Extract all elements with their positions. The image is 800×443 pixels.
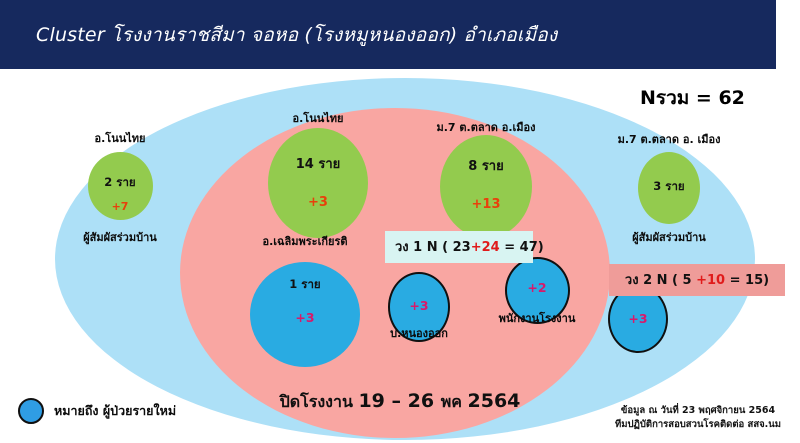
label-nonthai-inner-count: 14 ราย bbox=[248, 158, 388, 173]
label-nonthai-inner-plus: +3 bbox=[248, 196, 388, 211]
page-title: Cluster โรงงานราชสีมา จอหอ (โรงหมูหนองออ… bbox=[36, 20, 736, 50]
factory-closure-note: ปิดโรงงาน 19 – 26 พค 2564 bbox=[235, 390, 565, 415]
ring1-prefix: วง 1 N ( 23 bbox=[395, 240, 471, 255]
slide-canvas: Cluster โรงงานราชสีมา จอหอ (โรงหมูหนองออ… bbox=[0, 0, 800, 443]
label-chalermprakiat-count: 1 ราย bbox=[245, 278, 365, 291]
closure-dates: 19 – 26 bbox=[358, 390, 440, 412]
label-nonthai-inner-caption: อ.โนนไทย bbox=[248, 113, 388, 126]
label-nonthai-outer-subcaption: ผู้สัมผัสร่วมบ้าน bbox=[50, 232, 190, 245]
ring1-highlight: +24 bbox=[471, 240, 500, 255]
label-nongok-subcaption: บ.หนองออก bbox=[359, 328, 479, 341]
label-right-new-plus: +3 bbox=[598, 312, 678, 326]
legend: หมายถึง ผู้ป่วยรายใหม่ bbox=[18, 398, 176, 424]
footer-line-2: ทีมปฏิบัติการสอบสวนโรคติดต่อ สสจ.นม bbox=[600, 418, 796, 432]
label-chalermprakiat-plus: +3 bbox=[245, 311, 365, 325]
closure-month: พค bbox=[441, 392, 468, 411]
footer-line-1: ข้อมูล ณ วันที่ 23 พฤศจิกายน 2564 bbox=[600, 404, 796, 418]
label-nonthai-outer-count: 2 ราย bbox=[60, 176, 180, 189]
ring2-suffix: = 15) bbox=[725, 273, 769, 288]
group-circle-moo7-inner bbox=[440, 135, 532, 238]
ring1-suffix: = 47) bbox=[500, 240, 544, 255]
blue-circle-icon bbox=[18, 398, 44, 424]
label-moo7-inner-plus: +13 bbox=[416, 198, 556, 213]
ring1-tally-box: วง 1 N ( 23+24 = 47) bbox=[385, 231, 533, 263]
label-nonthai-outer-caption: อ.โนนไทย bbox=[60, 133, 180, 146]
label-moo7-inner-caption: ม.7 ต.ตลาด อ.เมือง bbox=[411, 122, 561, 135]
closure-prefix: ปิดโรงงาน bbox=[280, 392, 359, 411]
label-moo7-outer-subcaption: ผู้สัมผัสร่วมบ้าน bbox=[599, 232, 739, 245]
ring2-prefix: วง 2 N ( 5 bbox=[625, 273, 696, 288]
total-n-text: Nรวม = 62 bbox=[640, 87, 745, 109]
ring2-highlight: +10 bbox=[696, 273, 725, 288]
footer-source: ข้อมูล ณ วันที่ 23 พฤศจิกายน 2564 ทีมปฏิ… bbox=[600, 404, 796, 433]
label-moo7-outer-caption: ม.7 ต.ตลาด อ. เมือง bbox=[589, 134, 749, 147]
closure-year: 2564 bbox=[468, 390, 521, 412]
ring2-tally-box: วง 2 N ( 5 +10 = 15) bbox=[609, 264, 785, 296]
label-nonthai-outer-plus: +7 bbox=[60, 201, 180, 214]
title-bar: Cluster โรงงานราชสีมา จอหอ (โรงหมูหนองออ… bbox=[0, 0, 776, 69]
label-moo7-outer-count: 3 ราย bbox=[609, 180, 729, 193]
group-circle-nonthai-inner bbox=[268, 128, 368, 238]
label-chalermprakiat-caption: อ.เฉลิมพระเกียรติ bbox=[235, 236, 375, 249]
label-nongok-plus: +3 bbox=[379, 299, 459, 313]
label-moo7-inner-count: 8 ราย bbox=[416, 160, 556, 175]
label-factory-worker-plus: +2 bbox=[497, 281, 577, 295]
total-n-label: Nรวม = 62 bbox=[640, 83, 745, 113]
legend-label: หมายถึง ผู้ป่วยรายใหม่ bbox=[54, 401, 176, 421]
label-factory-worker-subcaption: พนักงานโรงงาน bbox=[477, 313, 597, 326]
